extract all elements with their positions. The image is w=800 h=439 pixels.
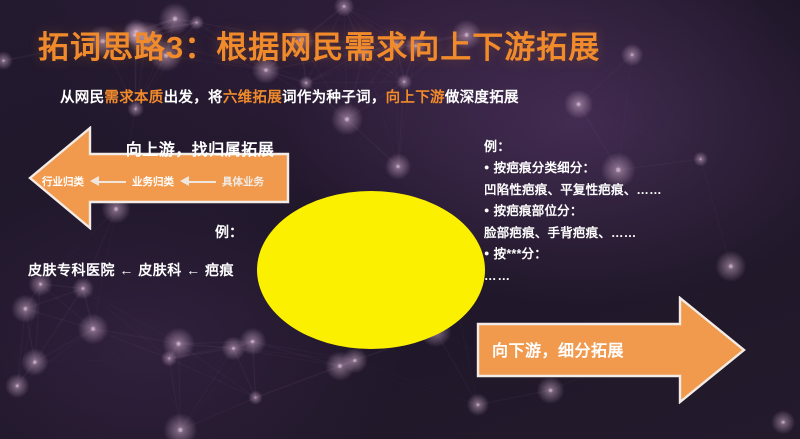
chain-item-industry: 行业归类 [42,174,84,189]
left-arrow-icon-2 [180,176,216,187]
chain-item-concrete: 具体业务 [222,174,264,189]
subtitle-highlight-2: 六维拓展 [223,90,282,106]
example-right-line-4: 脸部疤痕、手背疤痕、…… [484,227,784,240]
subtitle-seg-1: 从网民 [60,90,104,106]
downstream-arrow-banner: 向下游，细分拓展 [476,296,748,404]
example-right-line-6: …… [484,270,784,283]
downstream-arrow-label: 向下游，细分拓展 [492,337,624,361]
page-subtitle: 从网民需求本质出发，将六维拓展词作为种子词，向上下游做深度拓展 [60,86,519,107]
subtitle-highlight-3: 向上下游 [386,90,445,106]
example-right-line-5: 按***分： [484,248,784,261]
slide-canvas: 拓词思路3：根据网民需求向上下游拓展 从网民需求本质出发，将六维拓展词作为种子词… [0,0,800,439]
example-left-label: 例： [215,222,243,242]
subtitle-seg-3: 词作为种子词， [282,90,386,106]
example-right-line-1: 按疤痕分类细分： [484,162,784,175]
upstream-arrow-banner: 向上游，找归属拓展 行业归类 业务归类 具体业务 [22,126,290,230]
subtitle-seg-2: 出发，将 [164,90,223,106]
upstream-chain: 行业归类 业务归类 具体业务 [42,170,288,192]
upstream-arrow-label: 向上游，找归属拓展 [110,136,290,160]
chain-item-business: 业务归类 [132,174,174,189]
subtitle-highlight-1: 需求本质 [104,90,163,106]
example-right-block: 例： 按疤痕分类细分： 凹陷性疤痕、平复性疤痕、…… 按疤痕部位分： 脸部疤痕、… [484,140,784,291]
example-right-line-2: 凹陷性疤痕、平复性疤痕、…… [484,184,784,197]
left-arrow-icon-1 [90,176,126,187]
subtitle-seg-4: 做深度拓展 [445,90,519,106]
example-right-line-3: 按疤痕部位分： [484,205,784,218]
yellow-ellipse-highlight [257,191,485,349]
example-right-label: 例： [484,140,784,153]
page-title: 拓词思路3：根据网民需求向上下游拓展 [38,22,600,67]
example-left-chain: 皮肤专科医院 ← 皮肤科 ← 疤痕 [28,260,234,280]
